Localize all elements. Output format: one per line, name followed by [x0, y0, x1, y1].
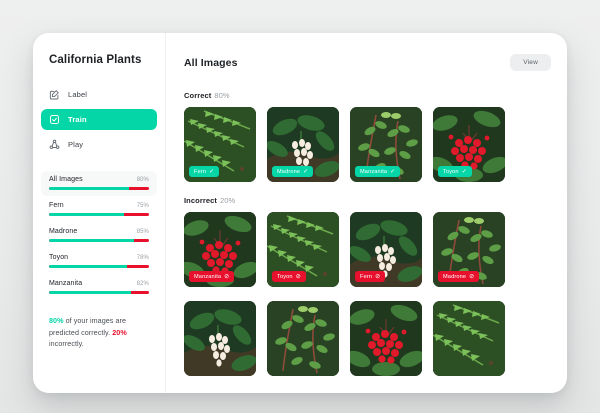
section-percent: 80% [214, 91, 229, 100]
badge-label: Madrone [277, 169, 300, 175]
accuracy-bar [49, 187, 149, 190]
section-label: Incorrect [184, 196, 217, 205]
screenshot-root: California Plants LabelTrainPlay All Ima… [0, 0, 600, 413]
stat-header: Madrone85% [49, 228, 149, 235]
main-header: All Images View [184, 54, 551, 71]
summary-text: 80% of your images are predicted correct… [33, 301, 165, 350]
badge-label: Madrone [443, 274, 466, 280]
badge-label: Fern [194, 169, 206, 175]
badge-label: Fern [360, 274, 372, 280]
sidebar-item-play[interactable]: Play [41, 134, 157, 155]
check-icon: ✓ [303, 169, 308, 175]
stat-row[interactable]: All Images80% [41, 171, 157, 196]
sidebar: California Plants LabelTrainPlay All Ima… [33, 33, 166, 393]
prediction-badge-incorrect: Manzanita⊘ [189, 271, 234, 282]
prediction-badge-correct: Manzanita✓ [355, 166, 400, 177]
stat-percent: 85% [137, 229, 149, 235]
stat-row[interactable]: Fern75% [41, 197, 157, 222]
stat-label: Fern [49, 202, 64, 209]
sidebar-item-label: Train [68, 115, 87, 124]
section-header: Incorrect20% [184, 196, 551, 205]
image-grid [184, 301, 551, 376]
stat-percent: 78% [137, 255, 149, 261]
stat-label: Madrone [49, 228, 77, 235]
image-card[interactable] [184, 301, 256, 376]
stat-percent: 82% [137, 281, 149, 287]
badge-label: Manzanita [194, 274, 221, 280]
nodes-icon [49, 139, 60, 150]
image-card[interactable] [267, 301, 339, 376]
image-card[interactable]: Madrone✓ [267, 107, 339, 182]
stat-percent: 80% [137, 177, 149, 183]
class-accuracy-list: All Images80%Fern75%Madrone85%Toyon78%Ma… [33, 159, 165, 300]
stat-header: Manzanita82% [49, 280, 149, 287]
image-card[interactable] [433, 301, 505, 376]
image-card[interactable]: Toyon✓ [433, 107, 505, 182]
view-button[interactable]: View [510, 54, 551, 71]
section-label: Correct [184, 91, 211, 100]
stat-header: All Images80% [49, 176, 149, 183]
summary-incorrect-text: incorrectly. [49, 339, 84, 348]
prediction-badge-correct: Fern✓ [189, 166, 219, 177]
check-icon: ✓ [209, 169, 214, 175]
image-grid: Manzanita⊘Toyon⊘Fern⊘Madrone⊘ [184, 212, 551, 287]
main-content: All Images View Correct80%Fern✓Madrone✓M… [166, 33, 567, 393]
image-card[interactable]: Toyon⊘ [267, 212, 339, 287]
stat-percent: 75% [137, 203, 149, 209]
prediction-badge-correct: Madrone✓ [272, 166, 313, 177]
image-card[interactable]: Manzanita✓ [350, 107, 422, 182]
edit-square-icon [49, 89, 60, 100]
stat-row[interactable]: Manzanita82% [41, 275, 157, 300]
check-icon: ✓ [462, 169, 467, 175]
image-card[interactable]: Fern✓ [184, 107, 256, 182]
check-icon: ✓ [390, 169, 395, 175]
accuracy-bar-fill [49, 213, 124, 216]
summary-incorrect-pct: 20% [112, 328, 127, 337]
image-card[interactable] [350, 301, 422, 376]
stat-label: Manzanita [49, 280, 82, 287]
badge-label: Manzanita [360, 169, 387, 175]
prediction-badge-correct: Toyon✓ [438, 166, 472, 177]
image-card[interactable]: Manzanita⊘ [184, 212, 256, 287]
app-title: California Plants [33, 54, 165, 66]
check-square-icon [49, 114, 60, 125]
blocked-icon: ⊘ [224, 274, 229, 280]
scroll-fade [166, 379, 567, 393]
image-card[interactable]: Fern⊘ [350, 212, 422, 287]
section-percent: 20% [220, 196, 235, 205]
accuracy-bar-fill [49, 265, 127, 268]
badge-label: Toyon [443, 169, 459, 175]
summary-correct-pct: 80% [49, 316, 64, 325]
image-card[interactable]: Madrone⊘ [433, 212, 505, 287]
sidebar-item-train[interactable]: Train [41, 109, 157, 130]
page-title: All Images [184, 57, 238, 69]
stat-label: Toyon [49, 254, 68, 261]
stat-row[interactable]: Madrone85% [41, 223, 157, 248]
accuracy-bar-fill [49, 239, 134, 242]
accuracy-bar [49, 213, 149, 216]
app-window: California Plants LabelTrainPlay All Ima… [33, 33, 567, 393]
prediction-badge-incorrect: Toyon⊘ [272, 271, 306, 282]
stat-row[interactable]: Toyon78% [41, 249, 157, 274]
blocked-icon: ⊘ [296, 274, 301, 280]
sidebar-item-label[interactable]: Label [41, 84, 157, 105]
image-grid: Fern✓Madrone✓Manzanita✓Toyon✓ [184, 107, 551, 182]
badge-label: Toyon [277, 274, 293, 280]
sidebar-item-label: Play [68, 140, 83, 149]
prediction-badge-incorrect: Fern⊘ [355, 271, 385, 282]
accuracy-bar-fill [49, 291, 131, 294]
stat-header: Toyon78% [49, 254, 149, 261]
accuracy-bar [49, 239, 149, 242]
accuracy-bar-fill [49, 187, 129, 190]
accuracy-bar [49, 265, 149, 268]
blocked-icon: ⊘ [375, 274, 380, 280]
stat-label: All Images [49, 176, 83, 183]
image-sections: Correct80%Fern✓Madrone✓Manzanita✓Toyon✓I… [184, 91, 551, 376]
prediction-badge-incorrect: Madrone⊘ [438, 271, 479, 282]
blocked-icon: ⊘ [469, 274, 474, 280]
sidebar-nav: LabelTrainPlay [33, 84, 165, 155]
section-header: Correct80% [184, 91, 551, 100]
stat-header: Fern75% [49, 202, 149, 209]
accuracy-bar [49, 291, 149, 294]
sidebar-item-label: Label [68, 90, 87, 99]
